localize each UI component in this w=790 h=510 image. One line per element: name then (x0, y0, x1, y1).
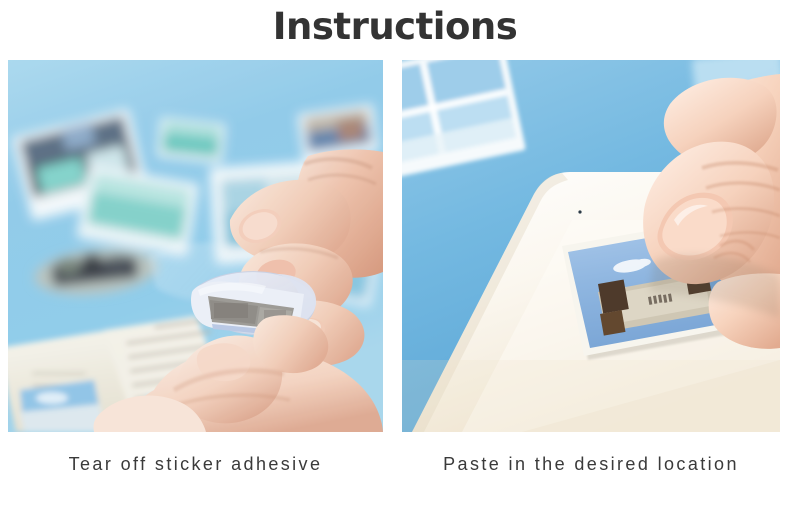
step-2-photo (402, 60, 780, 432)
step-1-photo (8, 60, 383, 432)
page-title: Instructions (0, 6, 790, 48)
step-1-caption: Tear off sticker adhesive (8, 452, 383, 476)
step-2-illustration (402, 60, 780, 432)
step-2-caption: Paste in the desired location (402, 452, 780, 476)
step-1-illustration (8, 60, 383, 432)
instructions-page: Instructions (0, 0, 790, 510)
